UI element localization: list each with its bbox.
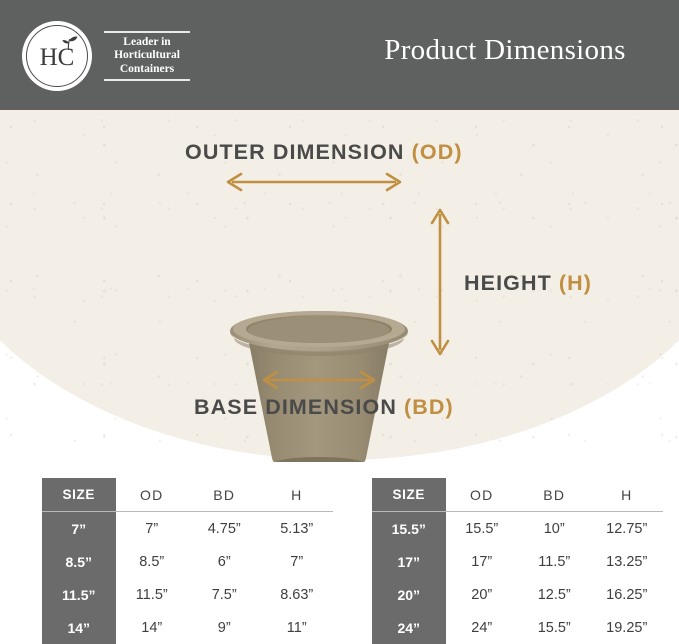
page-header: HC Leader in Horticultural Containers Pr… xyxy=(0,0,679,110)
tagline-line-1: Leader in xyxy=(104,36,190,50)
cell-size: 15.5” xyxy=(372,512,446,546)
cell-size: 20” xyxy=(372,578,446,611)
logo-circle-mark: HC xyxy=(22,21,92,91)
cell-od: 11.5” xyxy=(116,578,188,611)
height-arrow xyxy=(428,204,452,360)
cell-bd: 4.75” xyxy=(188,512,260,546)
table-row: 15.5” 15.5” 10” 12.75” xyxy=(372,512,663,546)
column-header-bd: BD xyxy=(188,478,260,512)
cell-od: 24” xyxy=(446,611,518,644)
leaf-sprout-icon xyxy=(59,35,79,51)
cell-h: 11” xyxy=(260,611,333,644)
cell-od: 8.5” xyxy=(116,545,188,578)
base-dimension-name: BASE DIMENSION xyxy=(194,395,397,419)
cell-size: 11.5” xyxy=(42,578,116,611)
cell-od: 17” xyxy=(446,545,518,578)
outer-dimension-label: OUTER DIMENSION (OD) xyxy=(185,140,463,165)
base-dimension-arrow xyxy=(258,368,380,392)
logo-monogram: HC xyxy=(22,21,92,91)
cell-size: 17” xyxy=(372,545,446,578)
cell-size: 24” xyxy=(372,611,446,644)
cell-size: 7” xyxy=(42,512,116,546)
cell-h: 19.25” xyxy=(590,611,663,644)
table-row: 11.5” 11.5” 7.5” 8.63” xyxy=(42,578,333,611)
column-header-h: H xyxy=(260,478,333,512)
height-name: HEIGHT xyxy=(464,271,552,295)
cell-bd: 11.5” xyxy=(518,545,590,578)
cell-od: 14” xyxy=(116,611,188,644)
tagline-line-2: Horticultural xyxy=(104,49,190,63)
cell-h: 7” xyxy=(260,545,333,578)
table-row: 24” 24” 15.5” 19.25” xyxy=(372,611,663,644)
column-header-od: OD xyxy=(116,478,188,512)
cell-bd: 10” xyxy=(518,512,590,546)
cell-bd: 12.5” xyxy=(518,578,590,611)
cell-h: 13.25” xyxy=(590,545,663,578)
table-row: 20” 20” 12.5” 16.25” xyxy=(372,578,663,611)
height-label: HEIGHT (H) xyxy=(464,271,592,296)
cell-size: 8.5” xyxy=(42,545,116,578)
column-header-size: SIZE xyxy=(42,478,116,512)
table-header-row: SIZE OD BD H xyxy=(42,478,333,512)
cell-bd: 7.5” xyxy=(188,578,260,611)
size-table-left: SIZE OD BD H 7” 7” 4.75” 5.13” 8.5” 8.5”… xyxy=(42,478,333,644)
outer-dimension-name: OUTER DIMENSION xyxy=(185,140,405,164)
brand-logo: HC Leader in Horticultural Containers xyxy=(22,20,187,92)
cell-h: 12.75” xyxy=(590,512,663,546)
column-header-h: H xyxy=(590,478,663,512)
cell-h: 16.25” xyxy=(590,578,663,611)
diagram-panel: OUTER DIMENSION (OD) xyxy=(0,110,679,462)
cell-bd: 6” xyxy=(188,545,260,578)
table-row: 14” 14” 9” 11” xyxy=(42,611,333,644)
cell-h: 8.63” xyxy=(260,578,333,611)
outer-dimension-arrow xyxy=(222,170,406,194)
column-header-bd: BD xyxy=(518,478,590,512)
cell-od: 15.5” xyxy=(446,512,518,546)
base-dimension-label: BASE DIMENSION (BD) xyxy=(194,395,454,420)
tagline-line-3: Containers xyxy=(104,63,190,77)
logo-tagline: Leader in Horticultural Containers xyxy=(104,24,190,87)
tagline-rule-top xyxy=(104,31,190,32)
base-dimension-tag: (BD) xyxy=(404,395,454,419)
column-header-od: OD xyxy=(446,478,518,512)
cell-size: 14” xyxy=(42,611,116,644)
table-row: 7” 7” 4.75” 5.13” xyxy=(42,512,333,546)
column-header-size: SIZE xyxy=(372,478,446,512)
cell-h: 5.13” xyxy=(260,512,333,546)
size-table-right: SIZE OD BD H 15.5” 15.5” 10” 12.75” 17” … xyxy=(372,478,663,644)
table-row: 8.5” 8.5” 6” 7” xyxy=(42,545,333,578)
tagline-rule-bottom xyxy=(104,79,190,80)
cell-bd: 9” xyxy=(188,611,260,644)
cell-od: 20” xyxy=(446,578,518,611)
height-tag: (H) xyxy=(559,271,592,295)
cell-bd: 15.5” xyxy=(518,611,590,644)
cell-od: 7” xyxy=(116,512,188,546)
table-row: 17” 17” 11.5” 13.25” xyxy=(372,545,663,578)
outer-dimension-tag: (OD) xyxy=(412,140,463,164)
table-header-row: SIZE OD BD H xyxy=(372,478,663,512)
page-title: Product Dimensions xyxy=(355,34,655,67)
